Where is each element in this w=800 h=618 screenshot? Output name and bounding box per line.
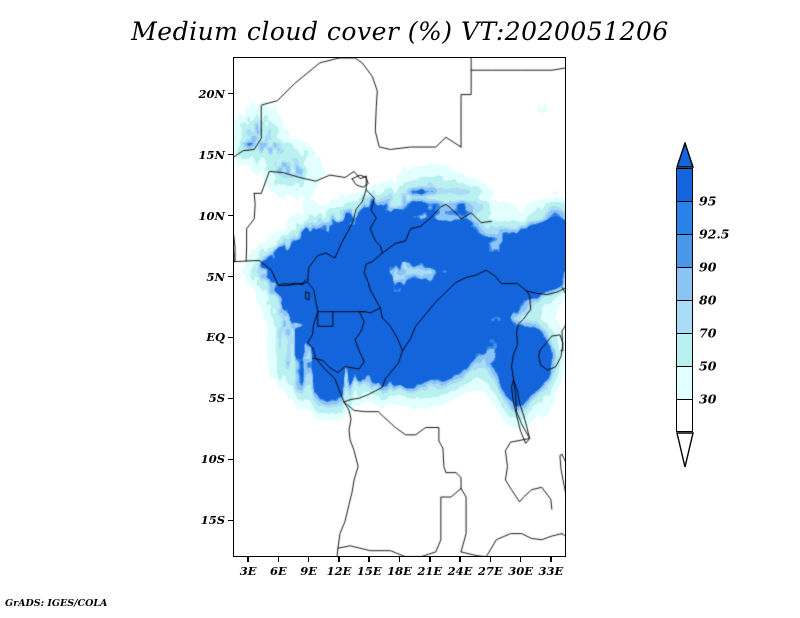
y-axis-tick-label: 10N: [180, 209, 225, 223]
colorbar-band: [676, 267, 693, 300]
colorbar-band: [676, 201, 693, 234]
y-axis-tick-mark: [228, 93, 233, 95]
x-axis-tick-label: 12E: [327, 564, 352, 578]
x-axis-tick-mark: [247, 557, 249, 562]
y-axis-tick-label: 15N: [180, 148, 225, 162]
x-axis-tick-mark: [278, 557, 280, 562]
colorbar-tick-label: 92.5: [699, 227, 729, 242]
colorbar-bottom-arrow-icon: [676, 432, 694, 468]
y-axis-tick-mark: [228, 215, 233, 217]
x-axis-tick-label: 33E: [538, 564, 563, 578]
x-axis-tick-label: 15E: [357, 564, 382, 578]
y-axis-tick-mark: [228, 520, 233, 522]
colorbar-tick-label: 30: [699, 392, 716, 407]
x-axis-tick-label: 9E: [300, 564, 317, 578]
colorbar-tick-label: 90: [699, 260, 716, 275]
colorbar-tick-label: 95: [699, 194, 716, 209]
colorbar-band: [676, 234, 693, 267]
x-axis-tick-label: 27E: [478, 564, 503, 578]
y-axis-tick-mark: [228, 276, 233, 278]
x-axis-tick-mark: [490, 557, 492, 562]
x-axis-tick-mark: [459, 557, 461, 562]
x-axis-tick-label: 30E: [508, 564, 533, 578]
colorbar-band: [676, 399, 693, 432]
y-axis-tick-label: EQ: [180, 330, 225, 344]
x-axis-tick-label: 24E: [448, 564, 473, 578]
y-axis-tick-label: 20N: [180, 87, 225, 101]
y-axis-tick-mark: [228, 154, 233, 156]
y-axis-tick-label: 10S: [180, 452, 225, 466]
y-axis-tick-label: 5N: [180, 270, 225, 284]
colorbar-top-arrow-icon: [676, 142, 694, 168]
y-axis-tick-mark: [228, 337, 233, 339]
colorbar-band: [676, 300, 693, 333]
x-axis-tick-label: 3E: [240, 564, 257, 578]
y-axis-tick-label: 15S: [180, 513, 225, 527]
footer-credit: GrADS: IGES/COLA: [5, 598, 107, 609]
colorbar-tick-label: 50: [699, 359, 716, 374]
x-axis-tick-label: 6E: [270, 564, 287, 578]
colorbar-band: [676, 333, 693, 366]
x-axis-tick-mark: [429, 557, 431, 562]
colorbar-tick-label: 70: [699, 326, 716, 341]
x-axis-tick-mark: [550, 557, 552, 562]
y-axis-tick-label: 5S: [180, 391, 225, 405]
colorbar-tick-label: 80: [699, 293, 716, 308]
x-axis-tick-mark: [368, 557, 370, 562]
grads-chart: Medium cloud cover (%) VT:2020051206 20N…: [0, 0, 800, 618]
page-title: Medium cloud cover (%) VT:2020051206: [0, 17, 800, 46]
x-axis-tick-label: 18E: [387, 564, 412, 578]
x-axis-tick-mark: [308, 557, 310, 562]
colorbar-band: [676, 366, 693, 399]
colorbar-band: [676, 168, 693, 201]
x-axis-tick-label: 21E: [417, 564, 442, 578]
x-axis-tick-mark: [399, 557, 401, 562]
x-axis-tick-mark: [338, 557, 340, 562]
cloud-cover-raster: [234, 58, 566, 557]
map-plot-area: [233, 57, 566, 557]
y-axis-tick-mark: [228, 398, 233, 400]
x-axis-tick-mark: [520, 557, 522, 562]
y-axis-tick-mark: [228, 459, 233, 461]
